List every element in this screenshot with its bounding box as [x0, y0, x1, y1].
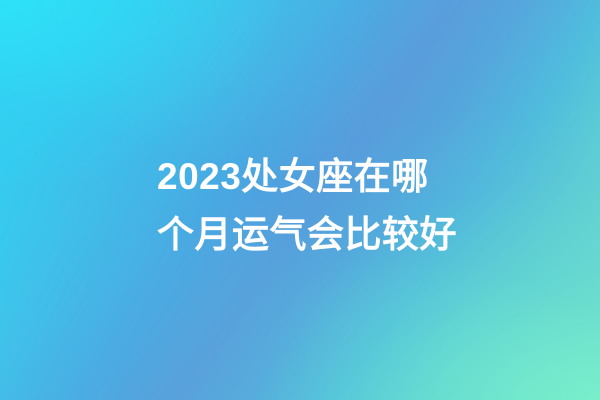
banner-title-line-2: 个月运气会比较好	[157, 206, 467, 264]
banner-title: 2023处女座在哪 个月运气会比较好	[157, 148, 467, 264]
gradient-banner: 2023处女座在哪 个月运气会比较好	[0, 0, 600, 400]
banner-title-line-1: 2023处女座在哪	[157, 148, 467, 206]
